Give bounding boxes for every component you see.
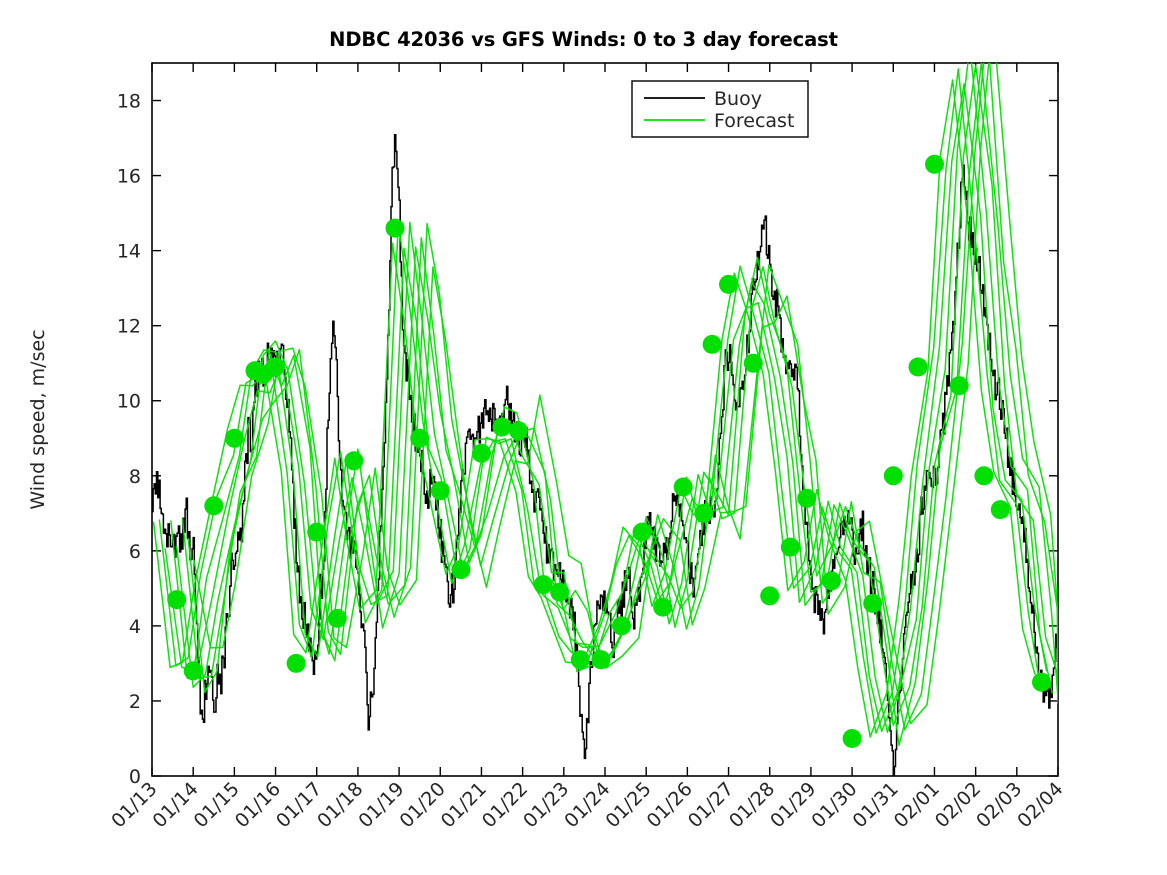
x-tick-label: 01/16 xyxy=(231,778,285,832)
wind-speed-chart: 02468101214161801/1301/1401/1501/1601/17… xyxy=(0,0,1167,875)
forecast-marker-point xyxy=(781,538,800,557)
x-tick-label: 01/18 xyxy=(313,778,367,832)
forecast-marker-point xyxy=(431,481,450,500)
forecast-marker-point xyxy=(797,489,816,508)
forecast-marker-point xyxy=(493,418,512,437)
forecast-marker-point xyxy=(287,654,306,673)
forecast-marker-point xyxy=(328,609,347,628)
forecast-marker-point xyxy=(884,466,903,485)
x-tick-label: 02/04 xyxy=(1013,778,1067,832)
legend-label-buoy: Buoy xyxy=(714,88,762,110)
x-tick-label: 02/02 xyxy=(931,778,985,832)
forecast-marker-point xyxy=(184,661,203,680)
y-axis-title: Wind speed, m/sec xyxy=(27,329,49,509)
y-tick-label: 4 xyxy=(129,616,141,638)
x-tick-label: 01/28 xyxy=(725,778,779,832)
forecast-marker-point xyxy=(612,616,631,635)
x-tick-label: 01/29 xyxy=(766,778,820,832)
forecast-marker-point xyxy=(266,358,285,377)
x-tick-label: 01/20 xyxy=(396,778,450,832)
y-tick-label: 16 xyxy=(117,166,141,188)
legend-label-forecast: Forecast xyxy=(714,110,794,132)
y-tick-label: 10 xyxy=(117,391,141,413)
forecast-marker-point xyxy=(204,496,223,515)
x-tick-label: 02/01 xyxy=(890,778,944,832)
forecast-marker-point xyxy=(760,586,779,605)
forecast-marker-point xyxy=(950,376,969,395)
forecast-marker-point xyxy=(633,523,652,542)
forecast-marker-point xyxy=(571,650,590,669)
forecast-marker-point xyxy=(991,500,1010,519)
forecast-marker-point xyxy=(863,594,882,613)
x-tick-label: 01/15 xyxy=(190,778,244,832)
forecast-marker-point xyxy=(822,571,841,590)
buoy-series xyxy=(152,135,1058,776)
y-tick-label: 8 xyxy=(129,466,141,488)
x-tick-label: 01/25 xyxy=(601,778,655,832)
figure-canvas: NDBC 42036 vs GFS Winds: 0 to 3 day fore… xyxy=(0,0,1167,875)
x-tick-label: 01/23 xyxy=(519,778,573,832)
x-tick-label: 01/26 xyxy=(643,778,697,832)
forecast-marker-point xyxy=(534,575,553,594)
forecast-marker-point xyxy=(167,590,186,609)
forecast-marker-point xyxy=(472,444,491,463)
x-tick-label: 01/22 xyxy=(478,778,532,832)
chart-legend: BuoyForecast xyxy=(632,81,808,137)
y-tick-label: 2 xyxy=(129,691,141,713)
x-tick-label: 01/17 xyxy=(272,778,326,832)
forecast-marker-point xyxy=(974,466,993,485)
forecast-marker-point xyxy=(550,583,569,602)
forecast-marker-point xyxy=(307,523,326,542)
x-tick-label: 01/14 xyxy=(148,778,202,832)
x-tick-label: 02/03 xyxy=(972,778,1026,832)
plot-frame xyxy=(152,63,1058,776)
y-tick-label: 14 xyxy=(117,241,141,263)
forecast-marker-point xyxy=(410,429,429,448)
x-tick-label: 01/31 xyxy=(849,778,903,832)
data-layer xyxy=(152,18,1058,776)
forecast-marker-point xyxy=(744,354,763,373)
forecast-marker-point xyxy=(225,429,244,448)
x-tick-label: 01/21 xyxy=(437,778,491,832)
forecast-marker-point xyxy=(386,219,405,238)
forecast-marker-point xyxy=(451,560,470,579)
forecast-marker-point xyxy=(1032,673,1051,692)
forecast-ensemble-member xyxy=(159,69,1040,733)
x-tick-label: 01/19 xyxy=(354,778,408,832)
y-tick-label: 6 xyxy=(129,541,141,563)
y-tick-label: 12 xyxy=(117,316,141,338)
forecast-marker-point xyxy=(344,451,363,470)
x-tick-label: 01/30 xyxy=(807,778,861,832)
forecast-marker-point xyxy=(653,598,672,617)
forecast-marker-point xyxy=(909,358,928,377)
forecast-marker-point xyxy=(694,504,713,523)
forecast-marker-point xyxy=(925,155,944,174)
x-tick-label: 01/24 xyxy=(560,778,614,832)
y-tick-label: 18 xyxy=(117,91,141,113)
forecast-marker-point xyxy=(674,478,693,497)
forecast-marker-point xyxy=(843,729,862,748)
forecast-marker-point xyxy=(703,335,722,354)
forecast-marker-point xyxy=(509,421,528,440)
forecast-marker-point xyxy=(591,650,610,669)
forecast-marker-point xyxy=(719,275,738,294)
x-tick-label: 01/27 xyxy=(684,778,738,832)
